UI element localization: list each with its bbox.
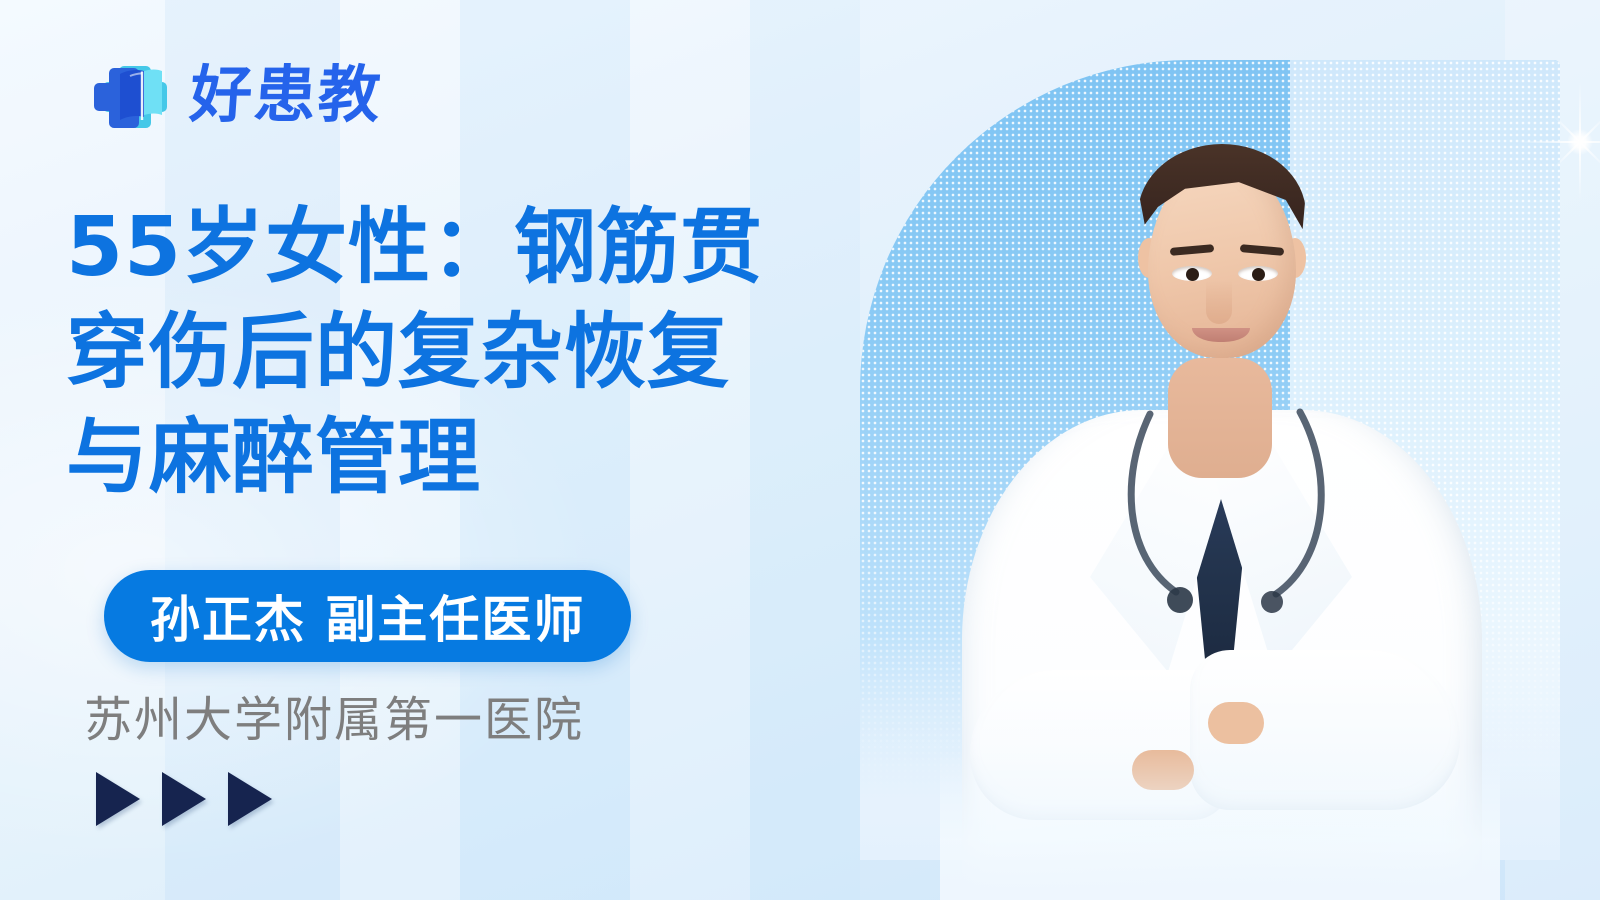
hand-left	[1208, 702, 1264, 744]
brand-logo[interactable]: 好患教	[86, 52, 382, 140]
play-triangle-icon	[96, 772, 140, 826]
brand-logo-text: 好患教	[188, 65, 384, 127]
play-arrows	[96, 772, 272, 826]
play-triangle-icon	[228, 772, 272, 826]
page-title-line-2: 穿伤后的复杂恢复	[66, 301, 866, 406]
portrait-bottom-fade	[940, 750, 1500, 900]
sparkle-core	[1567, 129, 1593, 155]
pupil-left	[1186, 268, 1199, 281]
sparkle-star-icon	[1520, 82, 1600, 202]
doctor-portrait	[940, 110, 1500, 900]
page-title-line-1: 55岁女性：钢筋贯	[66, 196, 866, 301]
play-triangle-icon	[162, 772, 206, 826]
medical-cross-book-icon	[86, 52, 174, 140]
nose	[1206, 280, 1232, 324]
page-title-line-3: 与麻醉管理	[66, 406, 866, 511]
page-title: 55岁女性：钢筋贯 穿伤后的复杂恢复 与麻醉管理	[66, 196, 866, 511]
affiliation-hospital: 苏州大学附属第一医院	[84, 680, 584, 750]
stethoscope-icon	[1090, 406, 1360, 656]
speaker-badge: 孙正杰 副主任医师	[104, 570, 631, 662]
pupil-right	[1252, 268, 1265, 281]
course-cover: 好患教 55岁女性：钢筋贯 穿伤后的复杂恢复 与麻醉管理 孙正杰 副主任医师 苏…	[0, 0, 1600, 900]
